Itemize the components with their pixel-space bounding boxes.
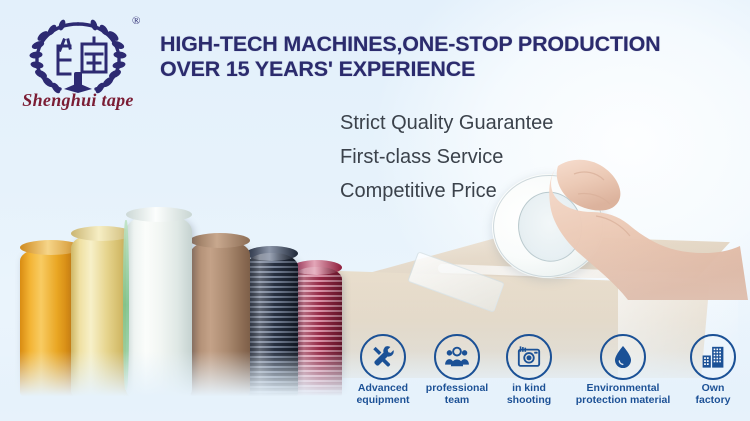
feature-own-factory[interactable]: Own factory (682, 334, 744, 406)
feature-label: in kind shooting (507, 383, 551, 406)
promo-banner: ® Shenghui tape HIGH-TECH MACHINES,ONE-S… (0, 0, 750, 421)
feature-icon-strip: Advanced equipment professional team (344, 334, 750, 414)
feature-professional-team[interactable]: professional team (420, 334, 494, 406)
laurel-wreath-emblem: ® (8, 10, 148, 100)
feature-label: Environmental protection material (576, 383, 671, 406)
feature-icon-circle (506, 334, 552, 380)
water-drop-icon (610, 344, 636, 370)
registered-mark: ® (132, 15, 140, 27)
headline-line-1: HIGH-TECH MACHINES,ONE-STOP PRODUCTION (160, 32, 660, 56)
feature-icon-circle (600, 334, 646, 380)
feature-label: Advanced equipment (356, 383, 409, 406)
factory-buildings-icon (700, 344, 726, 370)
wrench-screwdriver-icon (370, 344, 396, 370)
headline: HIGH-TECH MACHINES,ONE-STOP PRODUCTION O… (160, 32, 740, 82)
camera-icon (516, 344, 542, 370)
feature-icon-circle (434, 334, 480, 380)
feature-label: professional team (426, 383, 488, 406)
feature-icon-circle (360, 334, 406, 380)
company-logo[interactable]: ® Shenghui tape (8, 10, 148, 110)
feature-icon-circle (690, 334, 736, 380)
selling-point-1: Strict Quality Guarantee (340, 106, 670, 140)
team-people-icon (444, 344, 470, 370)
feature-label: Own factory (695, 383, 730, 406)
logo-wordmark: Shenghui tape (8, 90, 148, 111)
feature-advanced-equipment[interactable]: Advanced equipment (346, 334, 420, 406)
headline-line-2: OVER 15 YEARS' EXPERIENCE (160, 57, 740, 82)
feature-in-kind-shooting[interactable]: in kind shooting (494, 334, 564, 406)
feature-environmental-protection-material[interactable]: Environmental protection material (564, 334, 682, 406)
